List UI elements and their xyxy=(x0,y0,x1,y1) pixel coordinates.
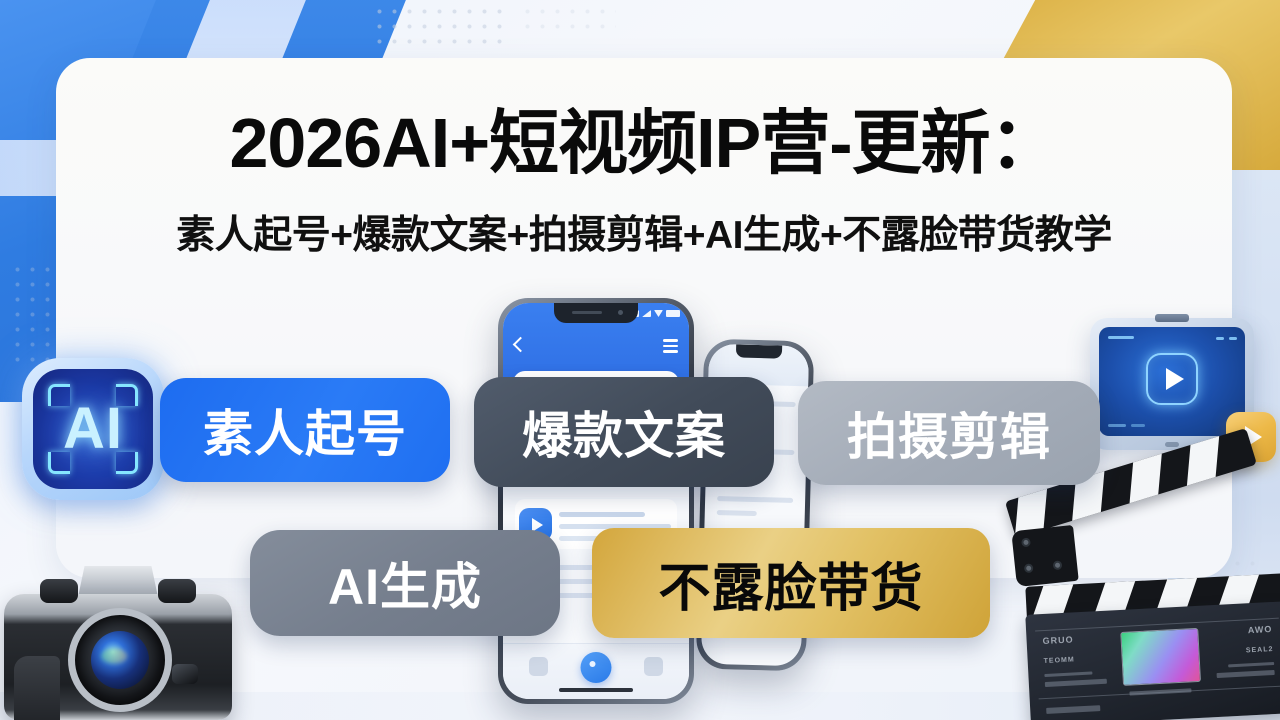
phone-mockup-front xyxy=(498,298,694,704)
wifi-icon xyxy=(654,310,663,317)
clapperboard-illustration: GRUO AWD AWO TEOMM SEAL2 xyxy=(1006,494,1280,720)
tablet-home-button xyxy=(1165,442,1179,447)
screen-accent-line xyxy=(1108,424,1126,427)
tab-record-button[interactable] xyxy=(581,652,612,683)
screen-accent-dot xyxy=(1229,337,1237,340)
page-subtitle: 素人起号+爆款文案+拍摄剪辑+AI生成+不露脸带货教学 xyxy=(56,216,1232,255)
slate-mark xyxy=(1129,688,1191,695)
phone-back-line xyxy=(717,496,793,503)
play-icon[interactable] xyxy=(1146,353,1198,405)
hamburger-menu-icon[interactable] xyxy=(663,339,678,356)
phone-notch xyxy=(554,303,638,323)
screen-accent-dot xyxy=(1216,337,1224,340)
slate-mark xyxy=(1217,670,1275,678)
clapperboard-slate: GRUO AWD AWO TEOMM SEAL2 xyxy=(1025,601,1280,720)
tag-bao-kuan-wen-an[interactable]: 爆款文案 xyxy=(474,377,774,487)
camera-flash-window xyxy=(172,664,198,684)
scan-corner-icon xyxy=(116,384,138,406)
dot-pattern-top-secondary xyxy=(520,4,616,34)
phone-front-screen xyxy=(503,303,689,699)
ai-logo-label: AI xyxy=(63,400,123,458)
screen-accent-line xyxy=(1108,336,1134,339)
dot-pattern-top xyxy=(372,4,502,50)
tag-ai-sheng-cheng[interactable]: AI生成 xyxy=(250,530,560,636)
scan-corner-icon xyxy=(48,452,70,474)
ai-logo-badge: AI xyxy=(22,358,164,500)
ai-logo-inner: AI xyxy=(33,369,153,489)
poster-canvas: 2026AI+短视频IP营-更新： 素人起号+爆款文案+拍摄剪辑+AI生成+不露… xyxy=(0,0,1280,720)
slate-color-chart xyxy=(1120,628,1201,686)
slate-sub-label: TEOMM xyxy=(1044,656,1075,665)
camera-illustration xyxy=(0,548,242,720)
signal-icon xyxy=(642,310,651,317)
camera-lens xyxy=(68,608,172,712)
slate-label: GRUO xyxy=(1042,634,1073,646)
home-indicator xyxy=(559,688,633,692)
screen-accent-line xyxy=(1131,424,1145,427)
camera-dial-right xyxy=(158,579,196,603)
tag-pai-she-jian-ji[interactable]: 拍摄剪辑 xyxy=(798,381,1100,485)
tab-home-icon[interactable] xyxy=(529,657,548,676)
slate-mark xyxy=(1228,662,1274,667)
tag-bu-lu-lian[interactable]: 不露脸带货 xyxy=(592,528,990,638)
phone-back-notch xyxy=(736,344,782,358)
phone-back-line xyxy=(717,510,757,516)
slate-mark xyxy=(1045,679,1107,687)
camera-dial-left xyxy=(40,579,78,603)
slate-label: AWO xyxy=(1248,624,1273,635)
phone-tab-bar xyxy=(503,643,689,699)
hinge-rivet xyxy=(1021,537,1031,547)
battery-icon xyxy=(666,310,680,317)
slate-mark xyxy=(1046,705,1100,714)
slate-sub-label: SEAL2 xyxy=(1246,646,1274,654)
clapperboard-hinge xyxy=(1011,525,1079,587)
tablet-screen xyxy=(1099,327,1245,436)
tab-profile-icon[interactable] xyxy=(644,657,663,676)
tag-su-ren-qi-hao[interactable]: 素人起号 xyxy=(160,378,450,482)
camera-grip xyxy=(14,656,60,720)
camera-lens-glass xyxy=(91,631,149,689)
scan-corner-icon xyxy=(116,452,138,474)
text-line xyxy=(559,512,645,517)
page-title: 2026AI+短视频IP营-更新： xyxy=(56,108,1232,178)
hinge-rivet xyxy=(1053,560,1063,570)
slate-mark xyxy=(1044,672,1092,678)
hinge-rivet xyxy=(1024,563,1034,573)
camera-lens-flare xyxy=(101,648,127,664)
scan-corner-icon xyxy=(48,384,70,406)
